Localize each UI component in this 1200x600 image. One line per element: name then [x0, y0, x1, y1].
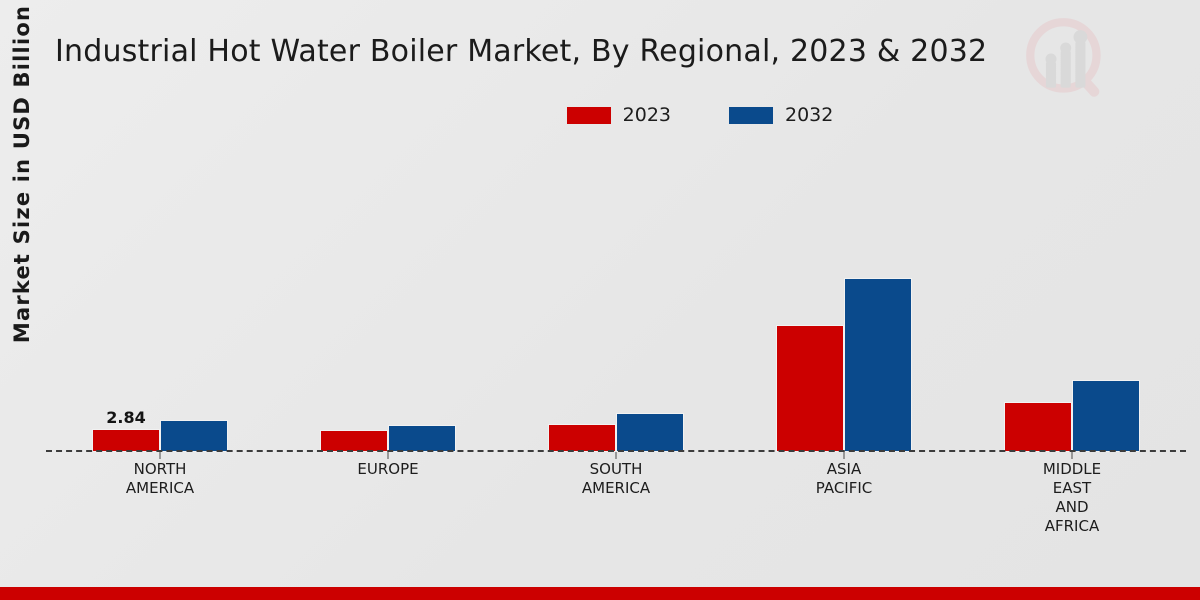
bar-groups: 2.84: [46, 150, 1186, 452]
bar-group-asia-pacific: [730, 150, 958, 452]
bar-group-europe: [274, 150, 502, 452]
bar-2032-asia-pacific[interactable]: [844, 278, 912, 452]
x-label-middle-east-and-africa: MIDDLE EAST AND AFRICA: [958, 460, 1186, 536]
axis-tick-europe: [388, 452, 389, 459]
chart-legend: 2023 2032: [0, 104, 1200, 126]
legend-item-2032[interactable]: 2032: [729, 104, 833, 126]
x-label-line: EUROPE: [274, 460, 502, 479]
legend-label-2023: 2023: [623, 104, 671, 126]
x-label-line: SOUTH: [502, 460, 730, 479]
x-axis-labels: NORTH AMERICA EUROPE SOUTH AMERICA ASIA …: [46, 460, 1186, 536]
bar-2023-europe[interactable]: [320, 430, 388, 452]
legend-item-2023[interactable]: 2023: [567, 104, 671, 126]
bar-group-north-america: 2.84: [46, 150, 274, 452]
x-label-north-america: NORTH AMERICA: [46, 460, 274, 536]
y-axis-title: Market Size in USD Billion: [10, 4, 34, 344]
bar-group-middle-east-and-africa: [958, 150, 1186, 452]
x-label-line: AND: [958, 498, 1186, 517]
bar-2023-south-america[interactable]: [548, 424, 616, 452]
bar-2032-europe[interactable]: [388, 425, 456, 452]
bar-2023-asia-pacific[interactable]: [776, 325, 844, 452]
axis-tick-north-america: [160, 452, 161, 459]
plot-area: 2.84: [46, 150, 1186, 452]
legend-swatch-2032: [729, 107, 773, 124]
legend-label-2032: 2032: [785, 104, 833, 126]
bar-2032-south-america[interactable]: [616, 413, 684, 452]
x-label-line: AMERICA: [502, 479, 730, 498]
x-label-line: EAST: [958, 479, 1186, 498]
bar-2032-north-america[interactable]: [160, 420, 228, 452]
x-label-line: ASIA: [730, 460, 958, 479]
x-label-line: MIDDLE: [958, 460, 1186, 479]
x-label-line: NORTH: [46, 460, 274, 479]
axis-tick-south-america: [616, 452, 617, 459]
bar-value-north-america-2023: 2.84: [106, 408, 145, 427]
x-label-line: PACIFIC: [730, 479, 958, 498]
x-label-line: AMERICA: [46, 479, 274, 498]
x-label-line: AFRICA: [958, 517, 1186, 536]
bar-2032-middle-east-and-africa[interactable]: [1072, 380, 1140, 452]
bar-2023-north-america[interactable]: 2.84: [92, 429, 160, 452]
bar-group-south-america: [502, 150, 730, 452]
bar-2023-middle-east-and-africa[interactable]: [1004, 402, 1072, 452]
footer-accent-bar: [0, 587, 1200, 600]
axis-tick-asia-pacific: [844, 452, 845, 459]
chart-canvas: Industrial Hot Water Boiler Market, By R…: [0, 0, 1200, 600]
legend-swatch-2023: [567, 107, 611, 124]
axis-baseline: [46, 450, 1186, 452]
x-label-asia-pacific: ASIA PACIFIC: [730, 460, 958, 536]
x-label-europe: EUROPE: [274, 460, 502, 536]
watermark-logo-icon: [1022, 14, 1114, 106]
chart-title: Industrial Hot Water Boiler Market, By R…: [55, 34, 987, 69]
x-label-south-america: SOUTH AMERICA: [502, 460, 730, 536]
axis-tick-middle-east-and-africa: [1072, 452, 1073, 459]
